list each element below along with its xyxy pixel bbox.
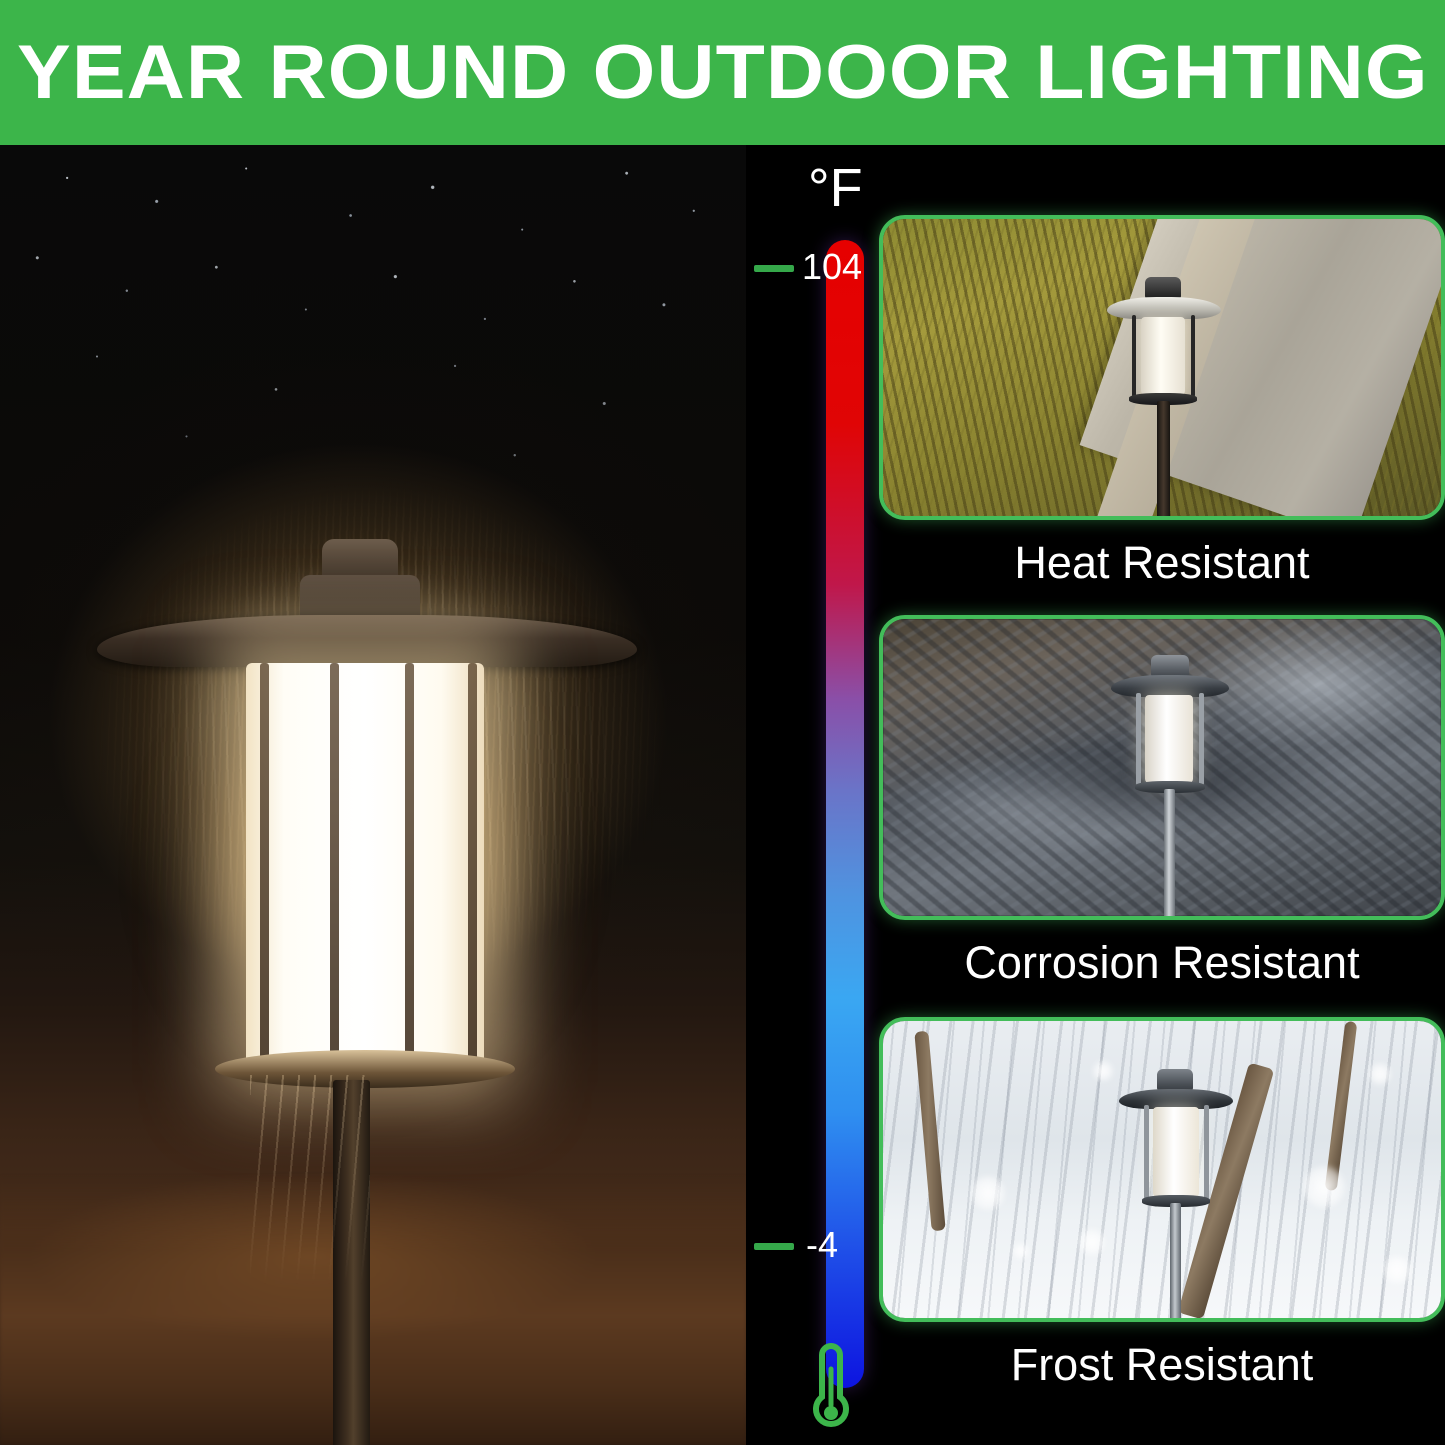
lamp-rib [405,663,414,1068]
page-title: YEAR ROUND OUTDOOR LIGHTING [17,35,1429,111]
feature-card-heat-resistant[interactable]: Heat Resistant [879,215,1445,585]
feature-label-corrosion: Corrosion Resistant [879,940,1445,985]
thermometer-icon [800,1343,862,1435]
lamp-rib [468,663,477,1068]
path-light-product [1105,277,1225,520]
snowflake-bokeh [1079,1229,1105,1255]
water-drips [250,1075,370,1285]
feature-card-frost-resistant[interactable]: Frost Resistant [879,1017,1445,1387]
feature-image-heat [879,215,1445,520]
header-banner: YEAR ROUND OUTDOOR LIGHTING [0,0,1445,145]
mulch-ground [0,1175,746,1445]
temperature-min-label: -4 [806,1227,838,1263]
temperature-unit-label: °F [808,161,863,215]
feature-label-frost: Frost Resistant [879,1342,1445,1387]
temperature-max-label: 104 [802,249,862,285]
snowflake-bokeh [1303,1166,1345,1208]
snowflake-bokeh [1013,1243,1029,1259]
snowflake-bokeh [1369,1063,1391,1085]
snowflake-bokeh [971,1176,1005,1210]
temperature-gradient-bar [826,240,864,1388]
path-light-product [1111,655,1231,920]
temperature-range-indicator: °F 104 -4 [746,145,892,1445]
snowflake-bokeh [1093,1061,1113,1081]
tick-mark-min [754,1243,794,1250]
lamp-rib [330,663,339,1068]
tick-mark-max [754,265,794,272]
path-light-product [1119,1069,1239,1322]
feature-card-list: Heat Resistant Co [879,145,1445,1445]
hero-photo-waterproof-test: IP65 Waterproof [0,145,746,1445]
feature-image-corrosion [879,615,1445,920]
lamp-shade-cap [97,615,637,667]
right-panel: °F 104 -4 [746,145,1445,1445]
feature-label-heat: Heat Resistant [879,540,1445,585]
feature-image-frost [879,1017,1445,1322]
product-infographic: YEAR ROUND OUTDOOR LIGHTING [0,0,1445,1445]
feature-card-corrosion-resistant[interactable]: Corrosion Resistant [879,615,1445,985]
snowflake-bokeh [1383,1256,1411,1284]
lamp-rib [260,663,269,1068]
lamp-diffuser [246,663,484,1068]
